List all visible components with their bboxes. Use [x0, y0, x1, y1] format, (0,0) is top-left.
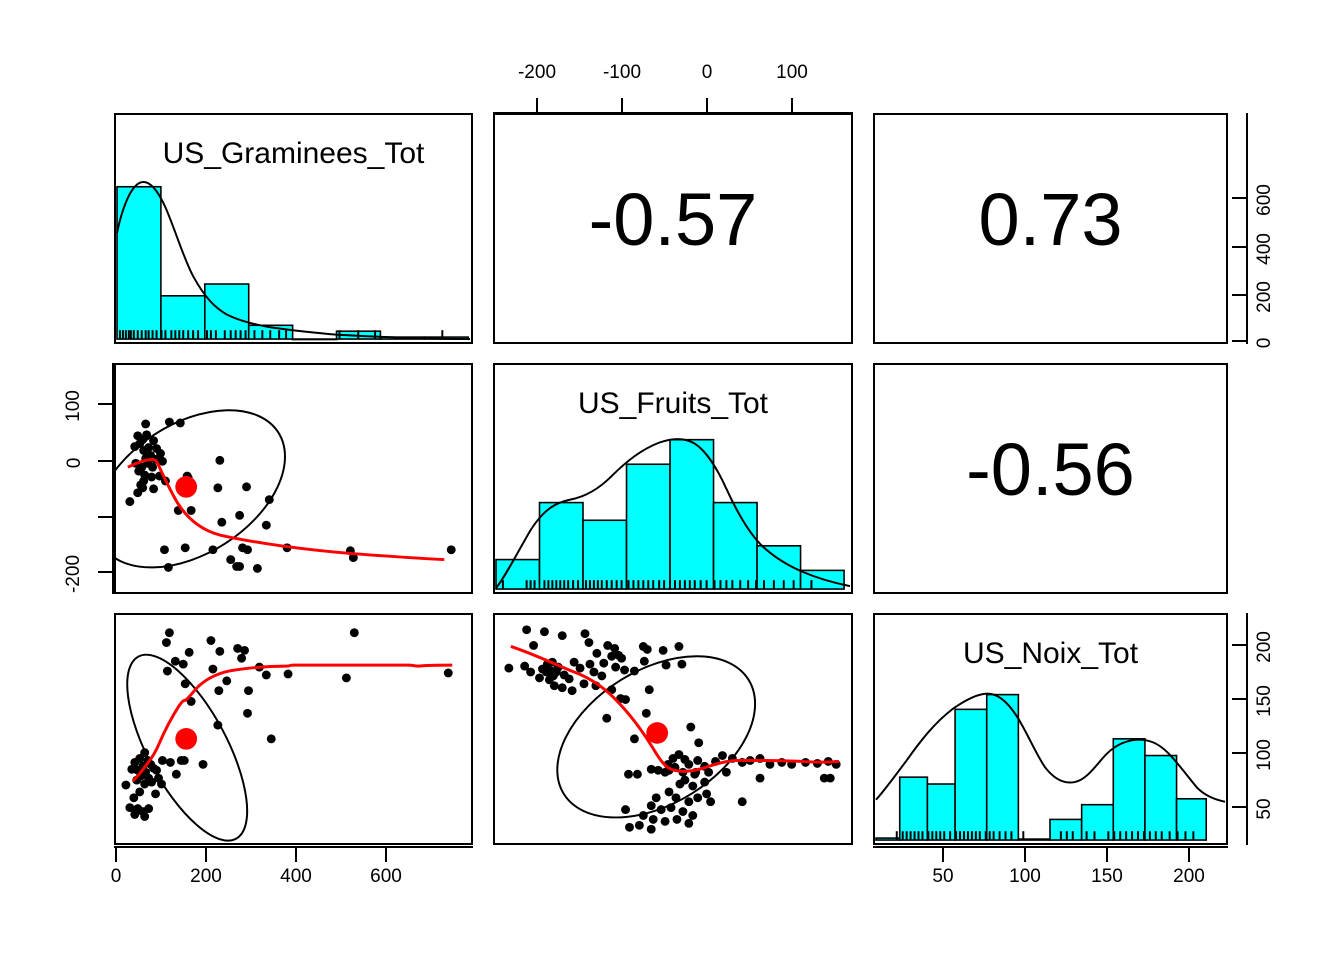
axis-right-row1-tick-1: [1232, 246, 1246, 248]
panel-title-fruits: US_Fruits_Tot: [495, 387, 851, 421]
splom-figure: -200 -100 0 100: [0, 0, 1344, 960]
axis-top-label-3: 100: [766, 62, 818, 84]
correlation-value-graminees-fruits: -0.57: [495, 183, 851, 257]
axis-bottom-col3-label-1: 100: [999, 866, 1051, 888]
axis-left-row2-tick-2: [98, 516, 112, 518]
axis-bottom-col3-tick-1: [1024, 848, 1026, 862]
axis-right-row3-tick-1: [1232, 698, 1246, 700]
axis-right-row3-tick-0: [1232, 644, 1246, 646]
axis-top-tick-2: [706, 98, 708, 112]
axis-right-row1-tick-3: [1232, 340, 1246, 342]
scatter-fruits-noix: [495, 615, 851, 843]
axis-left-row2-tick-1: [98, 460, 112, 462]
axis-bottom-col1-tick-3: [385, 848, 387, 862]
axis-left-row2-label-3: -200: [63, 540, 85, 608]
panel-scatter-graminees-fruits[interactable]: [114, 363, 473, 594]
panel-corr-graminees-fruits[interactable]: -0.57: [493, 113, 853, 344]
axis-right-row3-label-0: 200: [1254, 621, 1276, 673]
panel-scatter-fruits-noix[interactable]: [493, 613, 853, 845]
axis-right-row1-line: [1246, 113, 1248, 344]
axis-bottom-col3-tick-0: [942, 848, 944, 862]
axis-right-row3-label-2: 100: [1254, 729, 1276, 781]
axis-bottom-col3-tick-2: [1106, 848, 1108, 862]
axis-top-label-0: -200: [511, 62, 563, 84]
axis-right-row1-label-2: 200: [1254, 271, 1276, 323]
axis-bottom-col3-label-3: 200: [1163, 866, 1215, 888]
axis-top-label-1: -100: [596, 62, 648, 84]
axis-right-row1-tick-2: [1232, 294, 1246, 296]
axis-right-row3-tick-2: [1232, 752, 1246, 754]
axis-right-row1-label-3: 0: [1254, 323, 1276, 363]
histogram-bars: [117, 187, 468, 340]
axis-right-row3-label-1: 150: [1254, 675, 1276, 727]
centroid-marker: [646, 722, 668, 744]
axis-bottom-col1-tick-2: [295, 848, 297, 862]
axis-top-label-2: 0: [681, 62, 733, 84]
axis-bottom-col1-label-0: 0: [96, 866, 136, 888]
axis-bottom-col1-tick-1: [205, 848, 207, 862]
axis-bottom-col1-tick-0: [115, 848, 117, 862]
axis-left-row2-tick-0: [98, 403, 112, 405]
scatter-graminees-fruits: [116, 365, 471, 592]
correlation-value-fruits-noix: -0.56: [875, 433, 1226, 507]
axis-left-row2-label-0: 100: [63, 380, 85, 432]
correlation-value-graminees-noix: 0.73: [875, 183, 1226, 257]
panel-title-noix: US_Noix_Tot: [875, 637, 1226, 671]
axis-left-row2-tick-3: [98, 571, 112, 573]
axis-right-row1-label-0: 600: [1254, 174, 1276, 226]
panel-scatter-graminees-noix[interactable]: [114, 613, 473, 845]
scatter-graminees-noix: [116, 615, 471, 843]
axis-right-row3-label-3: 50: [1254, 787, 1276, 831]
axis-bottom-col1-label-1: 200: [180, 866, 232, 888]
panel-title-graminees: US_Graminees_Tot: [116, 137, 471, 171]
panel-corr-fruits-noix[interactable]: -0.56: [873, 363, 1228, 594]
panel-diagonal-noix[interactable]: US_Noix_Tot: [873, 613, 1228, 845]
axis-bottom-col1-line: [114, 846, 473, 848]
axis-bottom-col3-tick-3: [1188, 848, 1190, 862]
axis-bottom-col1-label-2: 400: [270, 866, 322, 888]
axis-right-row1-label-1: 400: [1254, 223, 1276, 275]
centroid-marker: [175, 476, 197, 498]
axis-bottom-col1-label-3: 600: [360, 866, 412, 888]
axis-top-tick-3: [791, 98, 793, 112]
data-points: [125, 418, 455, 573]
axis-bottom-col3-label-2: 150: [1081, 866, 1133, 888]
axis-bottom-col3-label-0: 50: [917, 866, 969, 888]
axis-bottom-col3-line: [873, 846, 1228, 848]
data-points: [121, 628, 452, 821]
panel-diagonal-fruits[interactable]: US_Fruits_Tot: [493, 363, 853, 594]
axis-right-row3-line: [1246, 613, 1248, 845]
data-points: [504, 625, 840, 833]
panel-corr-graminees-noix[interactable]: 0.73: [873, 113, 1228, 344]
axis-top-tick-1: [621, 98, 623, 112]
panel-diagonal-graminees[interactable]: US_Graminees_Tot: [114, 113, 473, 344]
axis-right-row3-tick-3: [1232, 806, 1246, 808]
histogram-bars: [876, 695, 1206, 840]
axis-left-row2-label-1: 0: [64, 443, 86, 483]
axis-right-row1-tick-0: [1232, 197, 1246, 199]
axis-top-tick-0: [536, 98, 538, 112]
centroid-marker: [175, 728, 197, 750]
